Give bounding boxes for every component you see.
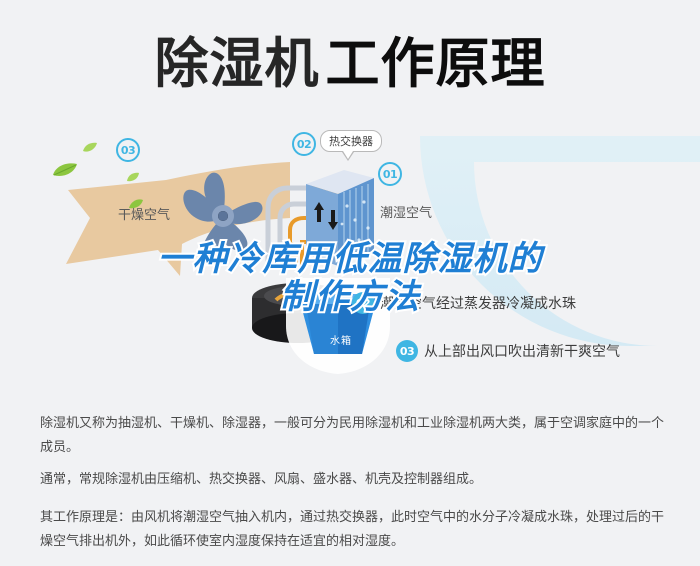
label-heat-exchanger: 热交换器 bbox=[320, 130, 382, 152]
water-tank-label: 水箱 bbox=[330, 332, 352, 347]
leaf-icon bbox=[126, 172, 140, 182]
badge-01-moist-air: 01 bbox=[378, 162, 402, 186]
heat-exchanger-block bbox=[300, 162, 376, 274]
diagram-illustration: 水箱 03 干燥空气 02 热交换器 01 潮湿空气 02 潮湿空气经过蒸发器冷… bbox=[0, 110, 700, 400]
badge-03-dry-air: 03 bbox=[116, 138, 140, 162]
leaf-icon bbox=[52, 162, 78, 178]
page-title-part1: 除湿机 bbox=[155, 32, 320, 95]
label-moist-air: 潮湿空气 bbox=[380, 202, 432, 221]
step-badge-02: 02 bbox=[352, 292, 374, 314]
page-title: 除湿机工作原理 bbox=[0, 28, 700, 100]
badge-02-heat-exchanger: 02 bbox=[292, 132, 316, 156]
step-line-03: 03 从上部出风口吹出清新干爽空气 bbox=[396, 340, 620, 362]
leaf-icon bbox=[82, 142, 98, 153]
body-paragraph-3: 其工作原理是：由风机将潮湿空气抽入机内，通过热交换器，此时空气中的水分子冷凝成水… bbox=[40, 506, 664, 554]
step-badge-03: 03 bbox=[396, 340, 418, 362]
step-line-02: 02 潮湿空气经过蒸发器冷凝成水珠 bbox=[352, 292, 576, 314]
page-title-text: 除湿机工作原理 bbox=[155, 34, 546, 94]
label-dry-air: 干燥空气 bbox=[118, 204, 170, 223]
page-root: 除湿机工作原理 bbox=[0, 0, 700, 566]
moist-air-band-cutout bbox=[474, 162, 700, 346]
body-text: 除湿机又称为抽湿机、干燥机、除湿器，一般可分为民用除湿机和工业除湿机两大类，属于… bbox=[40, 412, 664, 562]
body-paragraph-1: 除湿机又称为抽湿机、干燥机、除湿器，一般可分为民用除湿机和工业除湿机两大类，属于… bbox=[40, 412, 664, 460]
step-text-02: 潮湿空气经过蒸发器冷凝成水珠 bbox=[380, 293, 576, 313]
step-text-03: 从上部出风口吹出清新干爽空气 bbox=[424, 341, 620, 361]
page-title-part2: 工作原理 bbox=[326, 32, 546, 95]
body-paragraph-2: 通常，常规除湿机由压缩机、热交换器、风扇、盛水器、机壳及控制器组成。 bbox=[40, 468, 664, 492]
